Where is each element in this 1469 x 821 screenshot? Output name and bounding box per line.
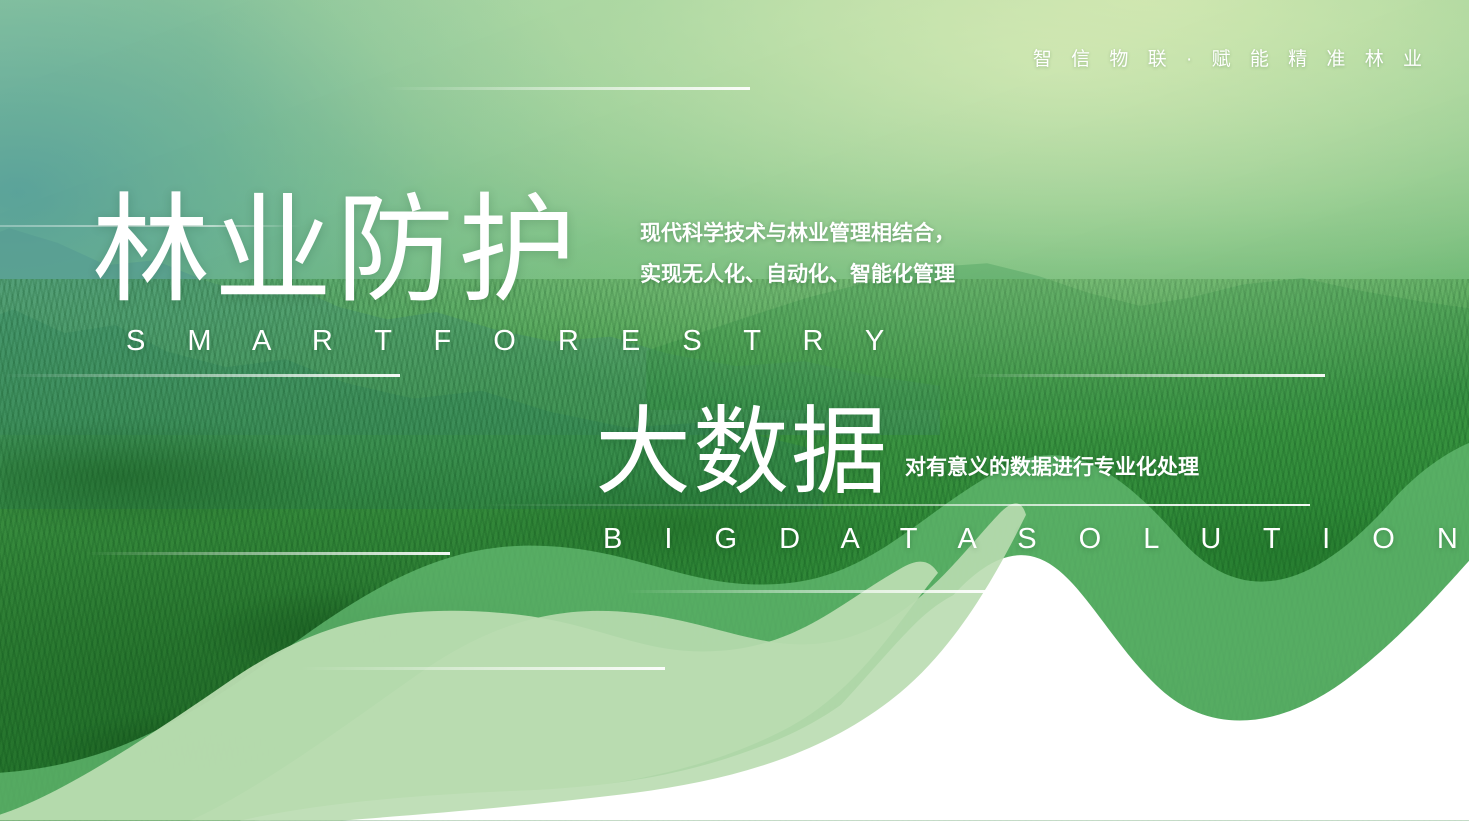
header-tagline: 智 信 物 联 · 赋 能 精 准 林 业: [1033, 44, 1429, 71]
forestry-description-line-1: 现代科学技术与林业管理相结合，: [640, 214, 955, 255]
bigdata-description: 对有意义的数据进行专业化处理: [905, 451, 1199, 481]
bigdata-title-cn: 大数据: [595, 405, 889, 501]
bigdata-title-row: 大数据 对有意义的数据进行专业化处理: [595, 405, 1469, 501]
bigdata-title-en: B I G D A T A S O L U T I O N S: [603, 523, 1469, 556]
forestry-description: 现代科学技术与林业管理相结合， 实现无人化、自动化、智能化管理: [640, 214, 955, 296]
forestry-description-line-2: 实现无人化、自动化、智能化管理: [640, 255, 955, 296]
forestry-title-en: S M A R T F O R E S T R Y: [126, 325, 901, 358]
bigdata-block: 大数据 对有意义的数据进行专业化处理 B I G D A T A S O L U…: [595, 405, 1469, 556]
slide-canvas: 智 信 物 联 · 赋 能 精 准 林 业 林业防护 S M A R T F O…: [0, 0, 1469, 821]
